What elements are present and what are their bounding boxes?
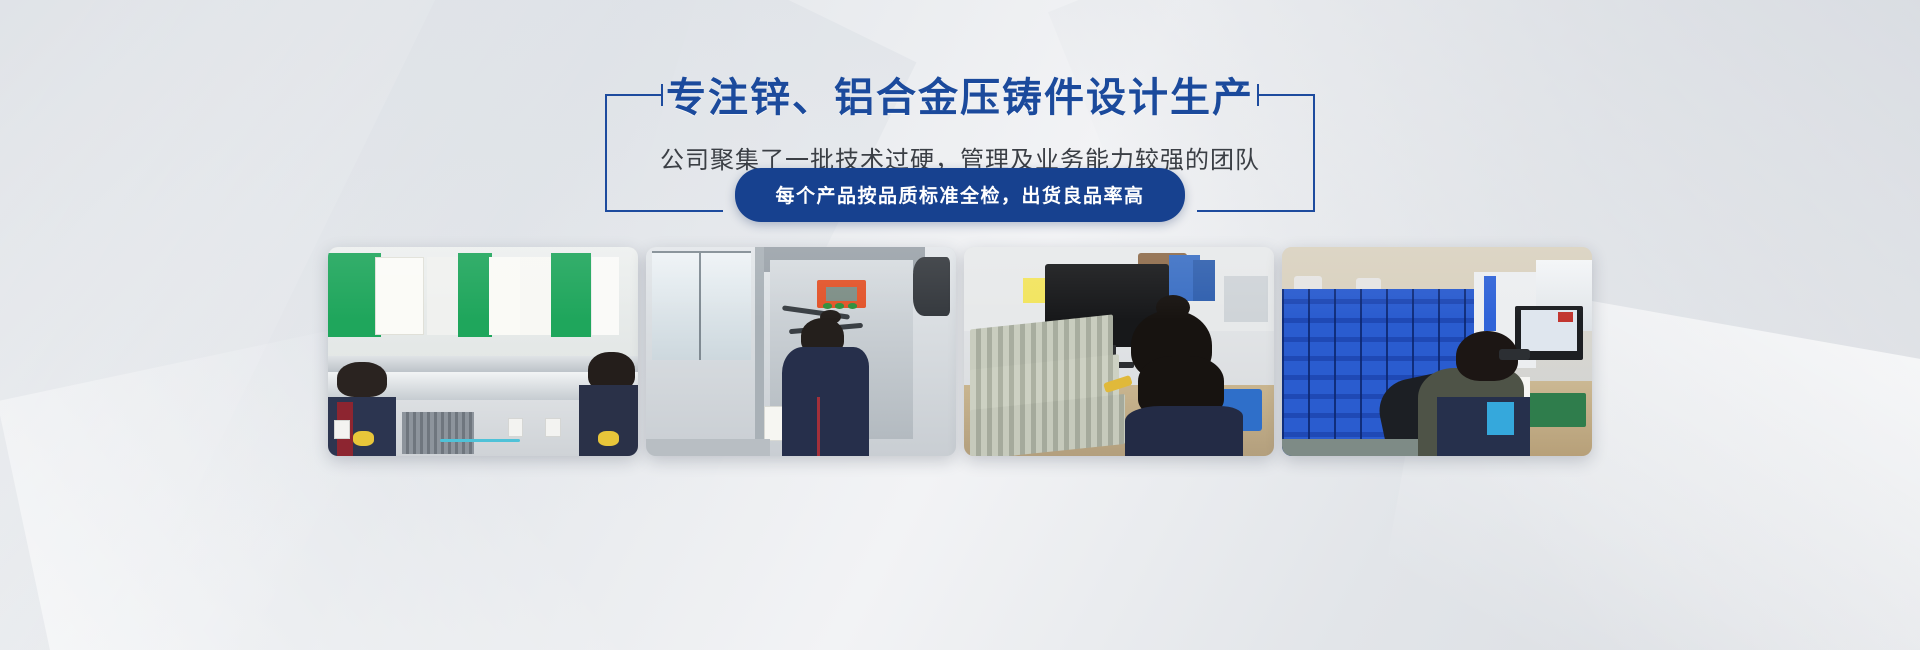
photo-packing-inspection[interactable] <box>964 247 1274 456</box>
photo-diecast-machine[interactable] <box>646 247 956 456</box>
photo-parts-rack-workstation[interactable] <box>1282 247 1592 456</box>
door-frame <box>755 247 764 456</box>
metal-parts-stack <box>402 412 473 454</box>
green-panel <box>458 253 492 337</box>
eyeglasses <box>1499 349 1530 359</box>
posted-document <box>489 257 520 334</box>
robot-arm <box>913 257 950 316</box>
green-panel <box>551 253 591 337</box>
wall-socket <box>545 418 561 437</box>
promo-banner: 专注锌、铝合金压铸件设计生产 公司聚集了一批技术过硬，管理及业务能力较强的团队 … <box>0 0 1920 650</box>
photo-4-scene <box>1282 247 1592 456</box>
badge-row: 每个产品按品质标准全检，出货良品率高 <box>0 168 1920 222</box>
panel-button <box>823 303 832 308</box>
work-glove <box>598 431 620 446</box>
window-frame <box>652 251 751 253</box>
photo-2-scene <box>646 247 956 456</box>
bracket-right-horizontal-line <box>1257 94 1315 96</box>
posted-document <box>375 257 425 334</box>
worker-lanyard <box>1487 402 1515 435</box>
posted-document <box>427 257 458 334</box>
bracket-frame: 专注锌、铝合金压铸件设计生产 公司聚集了一批技术过硬，管理及业务能力较强的团队 <box>605 60 1315 175</box>
worker-head <box>337 362 387 398</box>
wall-socket <box>508 418 524 437</box>
photo-3-scene <box>964 247 1274 456</box>
document-folder <box>1193 260 1215 302</box>
window-pane <box>652 251 751 360</box>
bracket-right-tick <box>1257 84 1259 106</box>
bracket-left-horizontal-line <box>605 94 663 96</box>
air-hose <box>440 439 521 442</box>
green-panel <box>328 253 381 337</box>
wall-socket <box>334 420 350 439</box>
storage-box <box>1224 276 1267 322</box>
worker-uniform <box>782 347 869 456</box>
banner-title: 专注锌、铝合金压铸件设计生产 <box>605 60 1315 118</box>
panel-screen <box>826 287 857 302</box>
work-glove <box>353 431 375 446</box>
worker-uniform <box>1125 406 1243 456</box>
workshop-floor <box>646 439 770 456</box>
posted-document <box>592 257 620 334</box>
screen-highlight <box>1558 312 1574 322</box>
headline-block: 专注锌、铝合金压铸件设计生产 公司聚集了一批技术过硬，管理及业务能力较强的团队 <box>0 60 1920 175</box>
photo-gallery <box>0 247 1920 456</box>
panel-button <box>835 303 844 308</box>
bracket-left-tick <box>661 84 663 106</box>
window-frame <box>699 251 701 360</box>
uniform-red-stripe <box>817 397 820 456</box>
cabinet-blue-stripe <box>1484 276 1496 330</box>
photo-1-scene <box>328 247 638 456</box>
posted-document <box>520 257 551 334</box>
worker-uniform <box>1437 397 1530 456</box>
quality-badge: 每个产品按品质标准全检，出货良品率高 <box>735 168 1184 222</box>
workshop-floor <box>1282 439 1418 456</box>
photo-inspection-bench[interactable] <box>328 247 638 456</box>
panel-button <box>848 303 857 308</box>
